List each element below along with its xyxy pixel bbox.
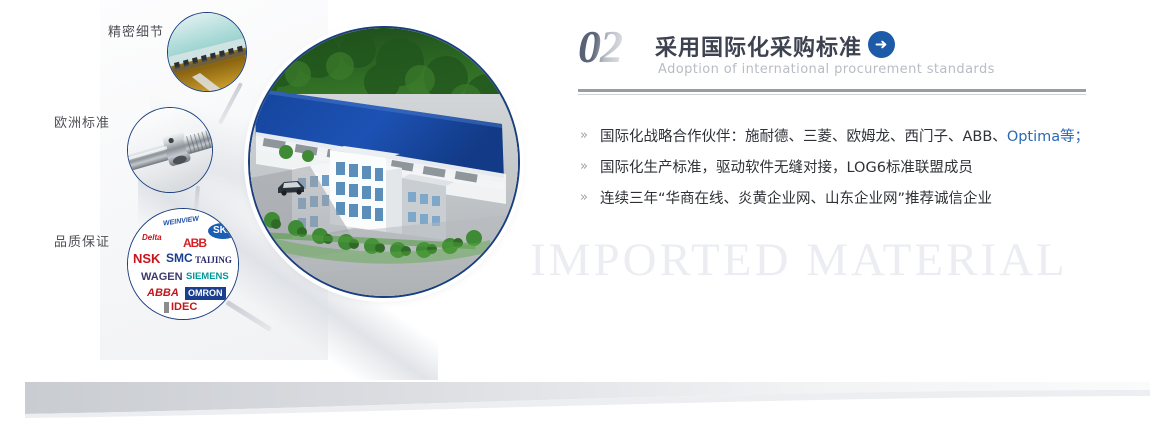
- label-quality-assurance: 品质保证: [54, 231, 110, 250]
- brand-logo-wall: WEINVIEW SKF Delta ABB NSK SMC TAIJING W…: [128, 209, 238, 319]
- section-subtitle: Adoption of international procurement st…: [658, 62, 995, 77]
- section-number: 02: [578, 24, 622, 70]
- list-item-text: 国际化生产标准，驱动软件无缝对接，LOG6标准联盟成员: [600, 156, 973, 177]
- label-precision-detail: 精密细节: [108, 21, 164, 40]
- label-european-standard: 欧洲标准: [54, 112, 110, 131]
- bullet-chevron-icon: »: [578, 190, 600, 205]
- list-item-text: 连续三年“华商在线、炎黄企业网、山东企业网”推荐诚信企业: [600, 187, 992, 208]
- brand-logo-smc: SMC: [166, 252, 193, 264]
- brand-logo-idec: IDEC: [164, 302, 197, 313]
- arrow-right-icon[interactable]: [868, 31, 895, 58]
- brand-logo-siemens: SIEMENS: [186, 272, 229, 282]
- bubble-european-standard: [127, 107, 213, 193]
- section-title: 采用国际化采购标准: [655, 30, 862, 62]
- list-item-text: 国际化战略合作伙伴：施耐德、三菱、欧姆龙、西门子、ABB、: [600, 125, 1007, 146]
- factory-photo: [250, 28, 518, 296]
- brand-logo-nsk: NSK: [133, 252, 160, 265]
- brand-logo-abba: ABBA: [147, 288, 179, 299]
- bubble-factory-overview: [248, 26, 520, 298]
- brand-logo-delta: Delta: [142, 234, 162, 242]
- brand-logo-weinview: WEINVIEW: [163, 216, 200, 228]
- content-column: 02 采用国际化采购标准 Adoption of international p…: [578, 0, 1088, 430]
- bubble-precision-detail: [167, 12, 247, 92]
- brand-logo-abb: ABB: [183, 237, 206, 249]
- list-item: » 国际化战略合作伙伴：施耐德、三菱、欧姆龙、西门子、ABB、 Optima等；: [578, 120, 1088, 151]
- bullet-chevron-icon: »: [578, 159, 600, 174]
- promo-banner: 精密细节 欧洲标准 品质保证: [0, 0, 1150, 430]
- watermark-text: IMPORTED MATERIAL: [530, 233, 1068, 287]
- bubble-quality-assurance: WEINVIEW SKF Delta ABB NSK SMC TAIJING W…: [127, 208, 239, 320]
- feature-list: » 国际化战略合作伙伴：施耐德、三菱、欧姆龙、西门子、ABB、 Optima等；…: [578, 120, 1088, 213]
- ball-screw-image: [128, 108, 213, 193]
- brand-logo-wagen: WAGEN: [141, 272, 183, 283]
- list-item: » 连续三年“华商在线、炎黄企业网、山东企业网”推荐诚信企业: [578, 182, 1088, 213]
- gear-detail-image: [168, 13, 247, 92]
- header-divider-thin: [578, 94, 1086, 95]
- brand-logo-skf: SKF: [208, 223, 238, 239]
- brand-logo-taijing: TAIJING: [195, 256, 232, 265]
- brand-logo-omron: OMRON: [185, 287, 226, 300]
- header-divider: [578, 89, 1086, 92]
- bullet-chevron-icon: »: [578, 128, 600, 143]
- arrow-right-glyph: [874, 37, 889, 52]
- list-item-accent: Optima等；: [1007, 125, 1089, 146]
- list-item: » 国际化生产标准，驱动软件无缝对接，LOG6标准联盟成员: [578, 151, 1088, 182]
- section-header: 02 采用国际化采购标准 Adoption of international p…: [578, 24, 1088, 90]
